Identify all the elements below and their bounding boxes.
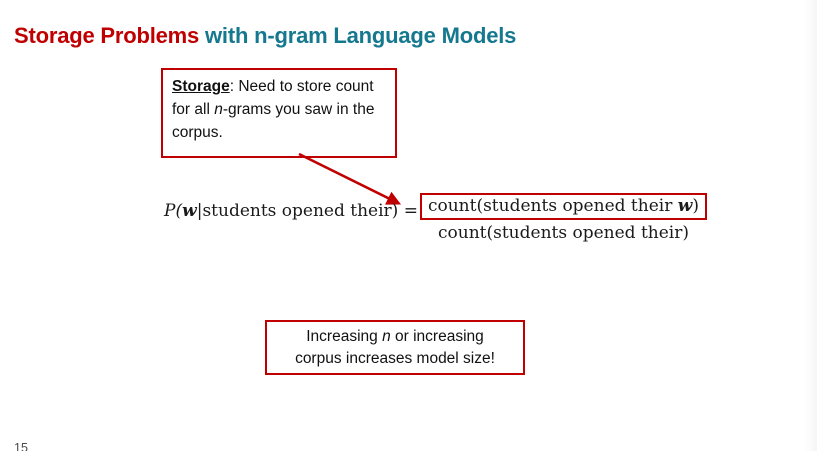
numerator-suffix: ) xyxy=(692,196,699,216)
storage-callout-label: Storage xyxy=(172,78,230,95)
conclusion-callout-box: Increasing n or increasingcorpus increas… xyxy=(265,320,525,375)
numerator-variable: w xyxy=(678,196,693,216)
slide-canvas: Storage Problems with n-gram Language Mo… xyxy=(0,0,817,451)
equation-lhs-condition: |students opened their) = xyxy=(197,201,418,221)
equation-numerator-box: count(students opened their w) xyxy=(420,193,707,220)
storage-callout-text: Storage: Need to store count for all n-g… xyxy=(172,76,386,145)
conclusion-variable: n xyxy=(382,328,391,345)
conclusion-line1-suffix: or increasing xyxy=(391,328,484,345)
equation-left-hand-side: P(w|students opened their) = xyxy=(164,201,418,235)
conclusion-line2: corpus increases model size! xyxy=(295,350,495,367)
equation-lhs-variable: w xyxy=(182,201,197,221)
equation-p-symbol: P( xyxy=(164,201,182,221)
equation-denominator: count(students opened their) xyxy=(420,220,707,243)
conclusion-line1-prefix: Increasing xyxy=(306,328,382,345)
conclusion-callout-text: Increasing n or increasingcorpus increas… xyxy=(289,326,501,370)
page-number: 15 xyxy=(14,441,28,451)
numerator-prefix: count(students opened their xyxy=(428,196,678,216)
page-title: Storage Problems with n-gram Language Mo… xyxy=(14,23,516,49)
probability-equation: P(w|students opened their) = count(stude… xyxy=(164,193,707,243)
equation-fraction: count(students opened their w) count(stu… xyxy=(420,193,707,243)
slide-right-edge xyxy=(803,0,817,451)
storage-callout-variable: n xyxy=(214,101,223,118)
title-emphasis: Storage Problems xyxy=(14,23,199,48)
title-remainder: with n-gram Language Models xyxy=(199,23,516,48)
